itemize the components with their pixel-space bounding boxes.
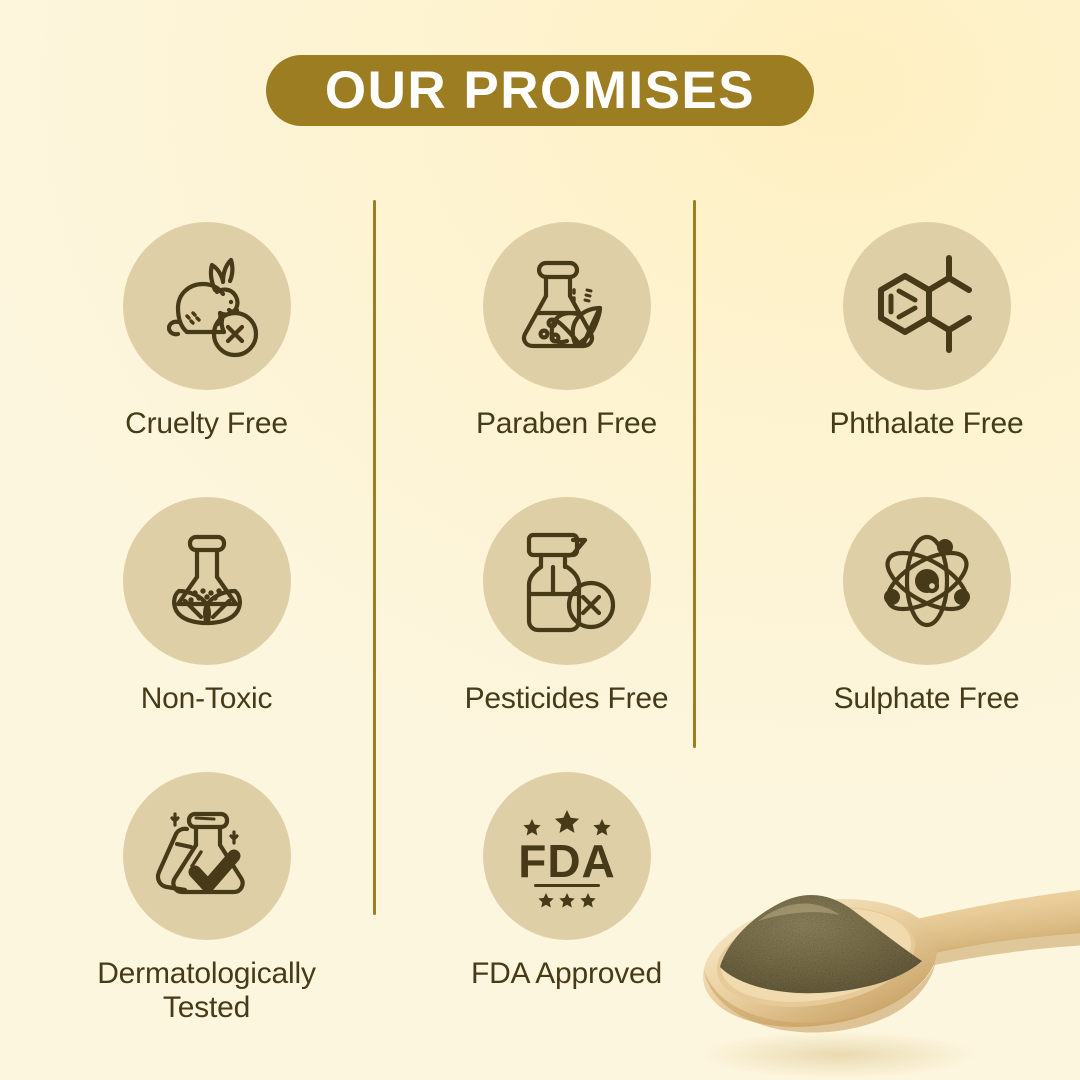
promise-label: Dermatologically Tested (97, 957, 316, 1024)
promises-row: Cruelty Free (0, 222, 1080, 497)
benzene-molecule-icon (843, 222, 1011, 390)
promise-label: Sulphate Free (834, 682, 1020, 716)
promise-label: Paraben Free (476, 407, 657, 441)
promise-label: Phthalate Free (830, 407, 1024, 441)
atom-icon (843, 497, 1011, 665)
promises-infographic: OUR PROMISES (0, 0, 1080, 1080)
wooden-spoon-with-herbal-powder (688, 875, 1080, 1080)
fda-stars-top (523, 810, 610, 836)
promise-label: Cruelty Free (125, 407, 288, 441)
fda-seal-icon: FDA (483, 772, 651, 940)
promise-item-fda-approved: FDA FDA Approved (413, 772, 720, 1047)
rabbit-no-icon (123, 222, 291, 390)
fda-stars-bottom (538, 893, 595, 908)
promise-label: Non-Toxic (141, 682, 273, 716)
promise-item-non-toxic: Non-Toxic (53, 497, 360, 772)
promises-row: Non-Toxic (0, 497, 1080, 772)
flask-leaves-icon (483, 222, 651, 390)
promise-label: Pesticides Free (465, 682, 669, 716)
promise-item-cruelty-free: Cruelty Free (53, 222, 360, 497)
promise-item-paraben-free: Paraben Free (413, 222, 720, 497)
promise-item-phthalate-free: Phthalate Free (773, 222, 1080, 497)
promise-item-dermatologically-tested: Dermatologically Tested (53, 772, 360, 1047)
promise-item-pesticides-free: Pesticides Free (413, 497, 720, 772)
promise-item-sulphate-free: Sulphate Free (773, 497, 1080, 772)
page-title-banner: OUR PROMISES (266, 55, 814, 126)
page-title: OUR PROMISES (325, 64, 755, 117)
flask-on-leaves-icon (123, 497, 291, 665)
flasks-check-icon (123, 772, 291, 940)
spray-bottle-no-icon (483, 497, 651, 665)
svg-text:FDA: FDA (518, 835, 616, 887)
promise-label: FDA Approved (471, 957, 662, 991)
